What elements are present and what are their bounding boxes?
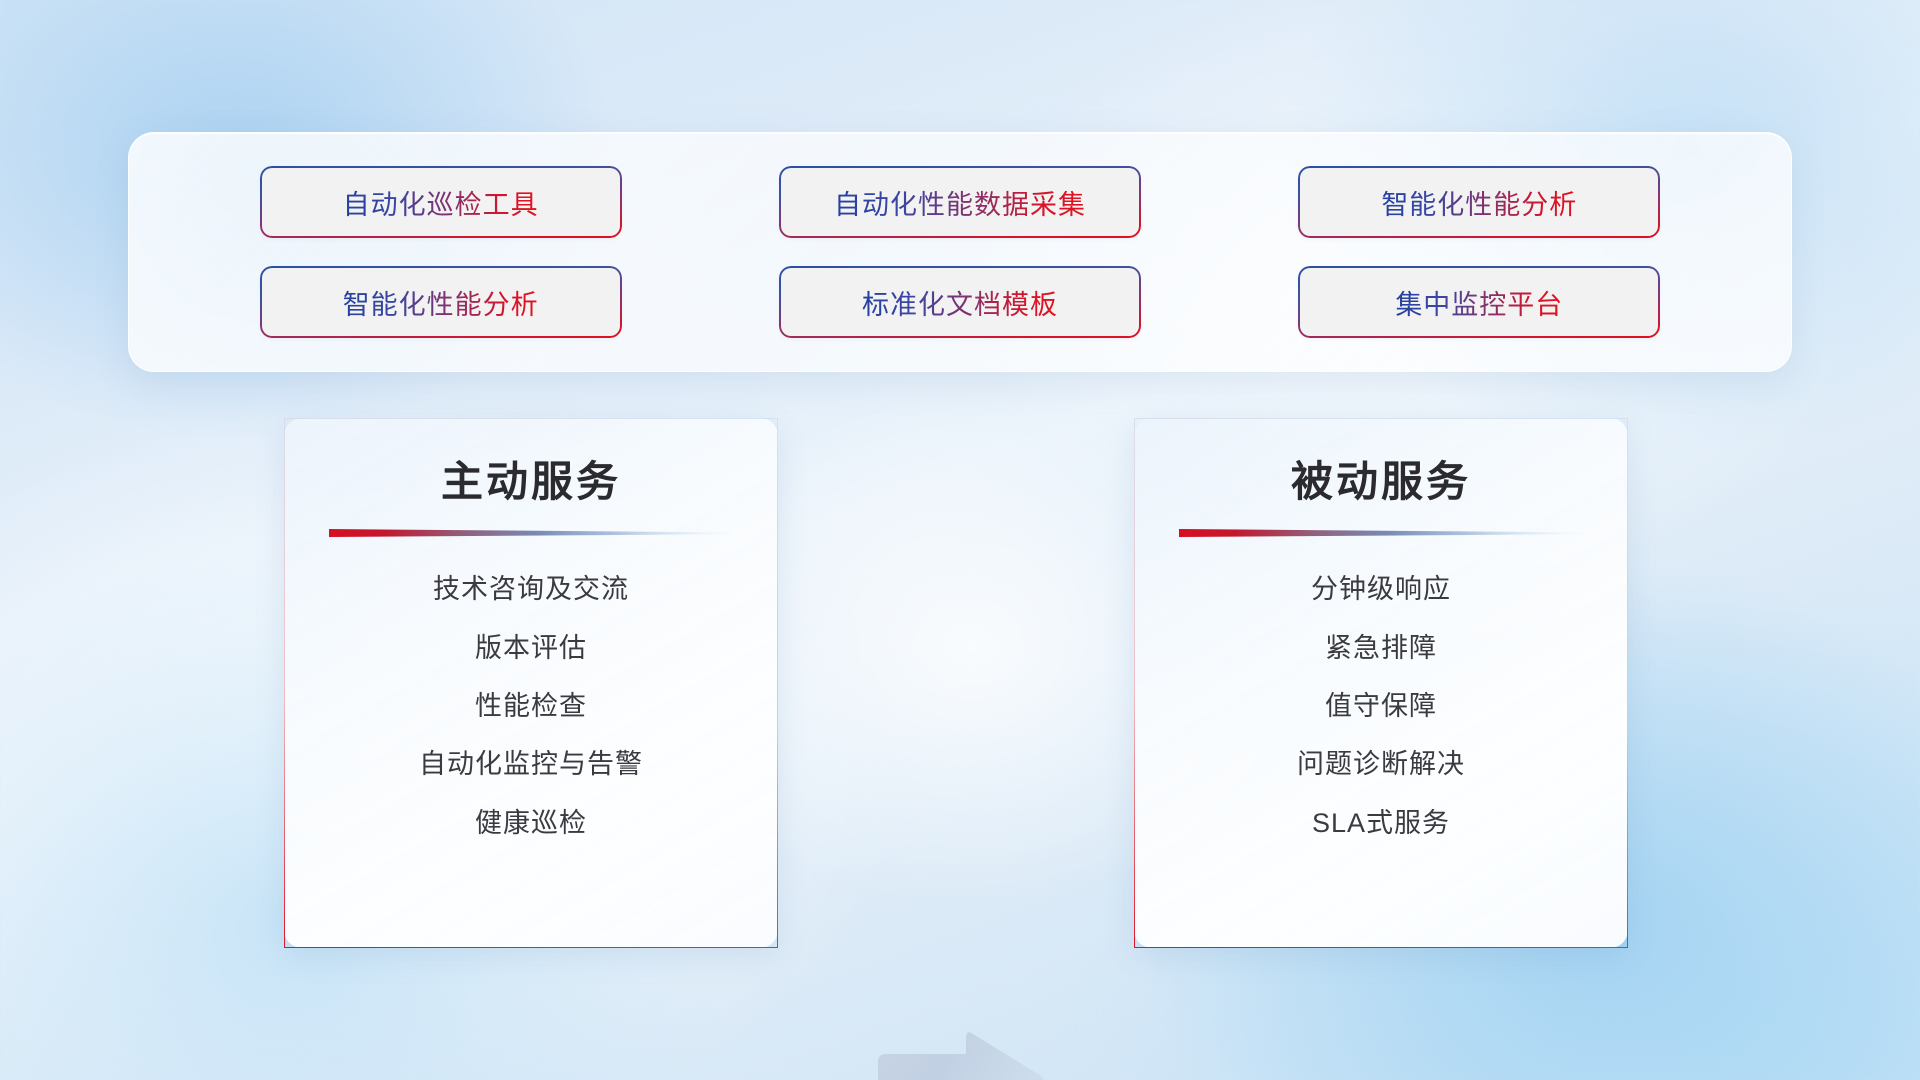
- list-item: SLA式服务: [1312, 807, 1450, 839]
- active-service-item-list: 技术咨询及交流 版本评估 性能检查 自动化监控与告警 健康巡检: [329, 573, 733, 839]
- service-cards-section: 主动服务: [0, 418, 1920, 978]
- passive-service-divider: [1179, 527, 1583, 539]
- list-item: 问题诊断解决: [1297, 748, 1465, 780]
- capability-tag-label: 集中监控平台: [1395, 283, 1563, 322]
- active-service-divider: [329, 527, 733, 539]
- gradient-wedge-icon: [1179, 527, 1583, 539]
- list-item: 分钟级响应: [1311, 573, 1451, 605]
- list-item: 健康巡检: [475, 807, 587, 839]
- active-service-card[interactable]: 主动服务: [284, 418, 778, 948]
- passive-service-title: 被动服务: [1291, 459, 1471, 505]
- capability-tag[interactable]: 集中监控平台: [1300, 268, 1658, 336]
- arrow-right-icon: [872, 1026, 1048, 1080]
- active-service-title: 主动服务: [441, 459, 621, 505]
- capability-tag[interactable]: 标准化文档模板: [781, 268, 1139, 336]
- passive-service-item-list: 分钟级响应 紧急排障 值守保障 问题诊断解决 SLA式服务: [1179, 573, 1583, 839]
- capability-tag-label: 自动化巡检工具: [343, 183, 539, 222]
- list-item: 值守保障: [1325, 690, 1437, 722]
- capability-tag[interactable]: 自动化性能数据采集: [781, 168, 1139, 236]
- passive-service-card[interactable]: 被动服务: [1134, 418, 1628, 948]
- list-item: 版本评估: [475, 632, 587, 664]
- list-item: 技术咨询及交流: [433, 573, 629, 605]
- flow-arrow: [872, 1026, 1048, 1080]
- list-item: 性能检查: [475, 690, 587, 722]
- active-service-card-body: 主动服务: [285, 419, 777, 947]
- passive-service-card-body: 被动服务: [1135, 419, 1627, 947]
- list-item: 紧急排障: [1325, 632, 1437, 664]
- capability-tag-label: 智能化性能分析: [343, 283, 539, 322]
- capability-tag-label: 自动化性能数据采集: [834, 183, 1086, 222]
- capability-tag-label: 智能化性能分析: [1381, 183, 1577, 222]
- list-item: 自动化监控与告警: [419, 748, 643, 780]
- capability-tags-panel: 自动化巡检工具 自动化性能数据采集 智能化性能分析 智能化性能分析 标准化文档模…: [128, 132, 1792, 372]
- gradient-wedge-icon: [329, 527, 733, 539]
- capability-tag[interactable]: 智能化性能分析: [1300, 168, 1658, 236]
- capability-tag-label: 标准化文档模板: [862, 283, 1058, 322]
- capability-tag[interactable]: 智能化性能分析: [262, 268, 620, 336]
- capability-tag[interactable]: 自动化巡检工具: [262, 168, 620, 236]
